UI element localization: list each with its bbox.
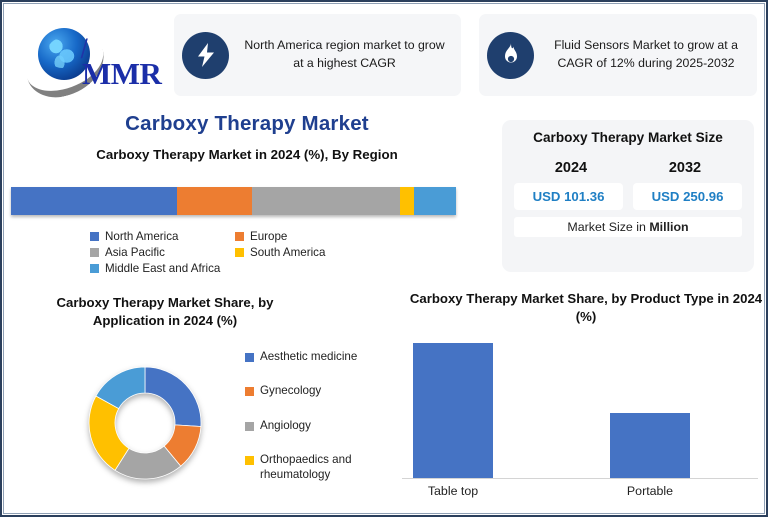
market-size-values: USD 101.36 USD 250.96 — [514, 183, 742, 210]
legend-item: Middle East and Africa — [90, 262, 235, 275]
product-chart-labels: Table topPortable — [402, 484, 758, 508]
lightning-bolt-icon — [182, 32, 229, 79]
legend-item: South America — [235, 246, 460, 259]
legend-swatch — [90, 232, 99, 241]
bar-label: Table top — [393, 484, 513, 498]
product-bar-chart — [402, 337, 758, 479]
legend-swatch — [90, 248, 99, 257]
infographic-root: / MMR North America region market to gro… — [0, 0, 768, 517]
stack-segment — [11, 187, 177, 215]
legend-item: North America — [90, 230, 235, 243]
bar-column — [610, 413, 690, 479]
donut-segment — [145, 367, 201, 427]
legend-item: Orthopaedics and rheumatology — [245, 453, 375, 482]
brand-name: MMR — [82, 56, 161, 92]
legend-label: Orthopaedics and rheumatology — [260, 453, 375, 482]
legend-swatch — [245, 456, 254, 465]
stack-segment — [414, 187, 456, 215]
legend-swatch — [235, 232, 244, 241]
legend-label: North America — [105, 230, 178, 243]
legend-label: Angiology — [260, 419, 311, 433]
application-legend: Aesthetic medicineGynecologyAngiologyOrt… — [245, 350, 375, 502]
footnote-unit: Million — [649, 220, 688, 234]
product-chart-title: Carboxy Therapy Market Share, by Product… — [402, 290, 768, 327]
legend-item: Aesthetic medicine — [245, 350, 375, 364]
page-title: Carboxy Therapy Market — [2, 112, 492, 136]
legend-label: Asia Pacific — [105, 246, 165, 259]
mmr-logo: / MMR — [20, 22, 180, 94]
year-to: 2032 — [628, 160, 742, 176]
legend-item: Europe — [235, 230, 460, 243]
legend-item: Angiology — [245, 419, 375, 433]
flame-icon — [487, 32, 534, 79]
application-chart-title: Carboxy Therapy Market Share, by Applica… — [30, 294, 300, 331]
market-size-card: Carboxy Therapy Market Size 2024 2032 US… — [502, 120, 754, 272]
stack-segment — [400, 187, 414, 215]
legend-item: Asia Pacific — [90, 246, 235, 259]
region-stacked-bar — [11, 187, 456, 215]
legend-swatch — [245, 353, 254, 362]
legend-swatch — [235, 248, 244, 257]
callout-text: North America region market to grow at a… — [238, 37, 451, 73]
year-from: 2024 — [514, 160, 628, 176]
value-from: USD 101.36 — [514, 183, 623, 210]
application-donut-chart — [88, 366, 202, 480]
legend-label: Gynecology — [260, 384, 321, 398]
legend-label: Aesthetic medicine — [260, 350, 357, 364]
stack-segment — [177, 187, 252, 215]
legend-label: Middle East and Africa — [105, 262, 220, 275]
footnote-prefix: Market Size in — [567, 220, 649, 234]
legend-label: Europe — [250, 230, 287, 243]
value-to: USD 250.96 — [633, 183, 742, 210]
legend-swatch — [245, 387, 254, 396]
bar-label: Portable — [590, 484, 710, 498]
callout-text: Fluid Sensors Market to grow at a CAGR o… — [543, 37, 749, 73]
bar-column — [413, 343, 493, 479]
callout-north-america: North America region market to grow at a… — [174, 14, 461, 96]
region-legend: North AmericaEuropeAsia PacificSouth Ame… — [90, 230, 460, 275]
product-chart-axis — [402, 478, 758, 479]
legend-item: Gynecology — [245, 384, 375, 398]
legend-swatch — [90, 264, 99, 273]
market-size-title: Carboxy Therapy Market Size — [514, 129, 742, 147]
stack-segment — [252, 187, 400, 215]
legend-swatch — [245, 422, 254, 431]
market-size-years: 2024 2032 — [514, 160, 742, 176]
legend-label: South America — [250, 246, 325, 259]
region-chart-title: Carboxy Therapy Market in 2024 (%), By R… — [2, 147, 492, 162]
market-size-footnote: Market Size in Million — [514, 217, 742, 237]
callout-fluid-sensors: Fluid Sensors Market to grow at a CAGR o… — [479, 14, 757, 96]
